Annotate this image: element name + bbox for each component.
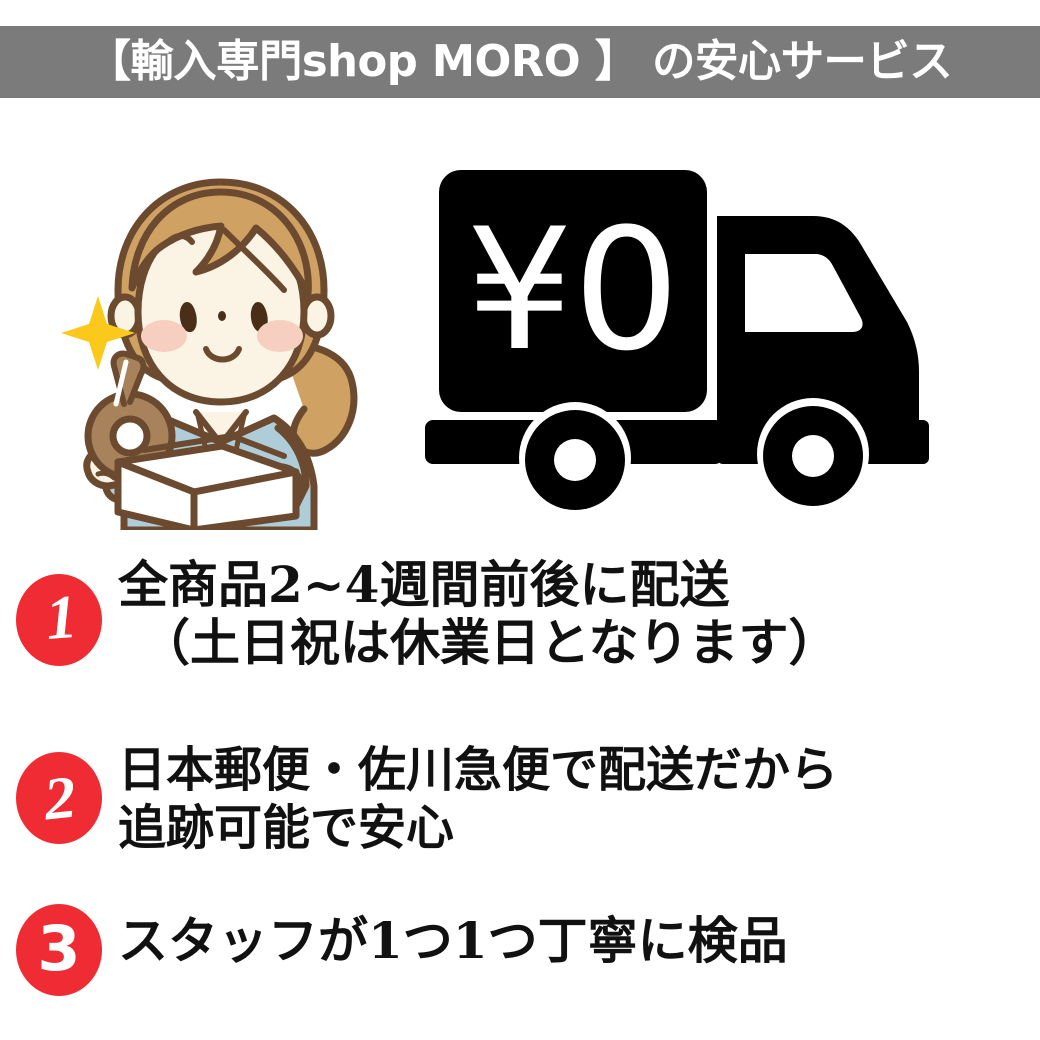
page-title: 【輸入専門shop MORO 】 の安心サービス [88,40,953,84]
list-item: 2 日本郵便・佐川急便で配送だから 追跡可能で安心 [0,738,1040,890]
illustration-row: ¥0 [0,140,1040,540]
truck-cargo-label: ¥0 [466,192,680,388]
list-item-line: 日本郵便・佐川急便で配送だから [118,742,1040,800]
badge-number-2: 2 [16,752,102,844]
service-list: 1 全商品2~4週間前後に配送 （土日祝は休業日となります） 2 日本郵便・佐川… [0,548,1040,1018]
service-info-banner: 【輸入専門shop MORO 】 の安心サービス [0,0,1040,1040]
delivery-truck-icon: ¥0 [415,158,1000,528]
list-item-line: 全商品2~4週間前後に配送 [118,556,1040,614]
list-item-text: 全商品2~4週間前後に配送 （土日祝は休業日となります） [102,548,1040,671]
badge-number-3: 3 [16,904,102,996]
woman-inspecting-package-illustration [46,150,396,530]
list-item-text: スタッフが1つ1つ丁寧に検品 [102,898,1040,970]
list-item: 1 全商品2~4週間前後に配送 （土日祝は休業日となります） [0,548,1040,728]
badge-number-1: 1 [16,574,102,666]
list-item-line: スタッフが1つ1つ丁寧に検品 [118,912,1040,970]
badge-number-label: 1 [43,586,78,650]
list-item-text: 日本郵便・佐川急便で配送だから 追跡可能で安心 [102,738,1040,857]
header-banner: 【輸入専門shop MORO 】 の安心サービス [0,26,1040,98]
badge-number-label: 3 [37,918,80,980]
list-item-line: 追跡可能で安心 [118,800,1040,858]
badge-number-label: 2 [41,767,79,830]
list-item-line: （土日祝は休業日となります） [118,614,1040,672]
list-item: 3 スタッフが1つ1つ丁寧に検品 [0,898,1040,1018]
